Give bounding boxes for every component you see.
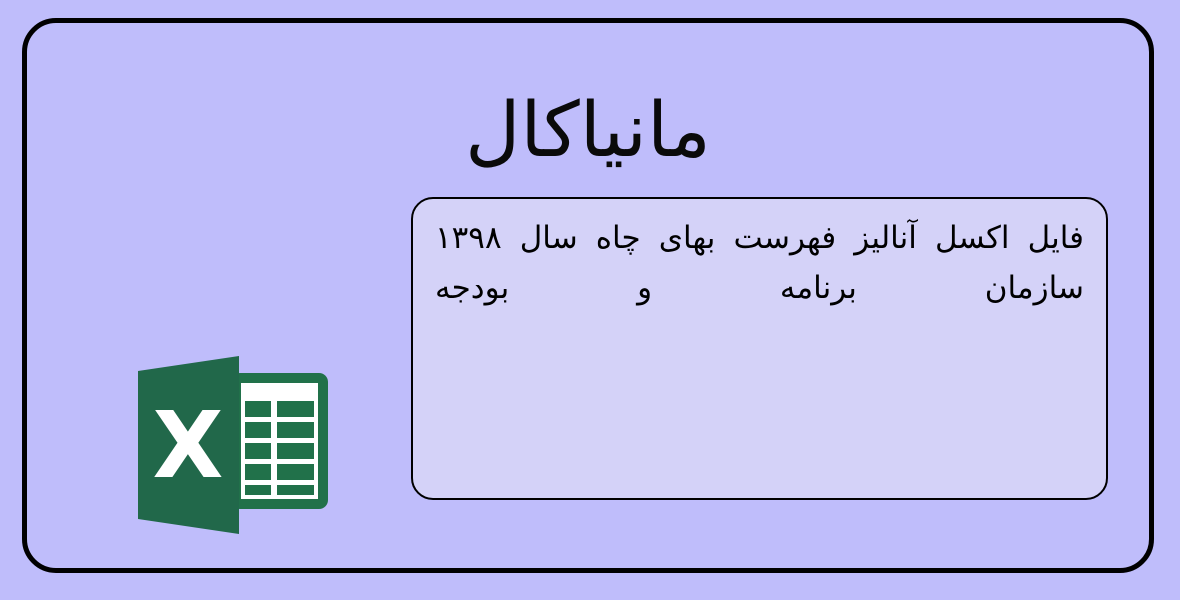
excel-letter-x: X (153, 392, 224, 499)
page-title: مانیاکال (27, 82, 1149, 177)
card-frame: مانیاکال فایل اکسل آنالیز فهرست بهای چاه… (22, 18, 1154, 573)
excel-front-panel: X (138, 356, 239, 534)
description-text: فایل اکسل آنالیز فهرست بهای چاه سال ۱۳۹۸… (435, 213, 1084, 313)
excel-file-icon-graphic: X (135, 353, 331, 537)
description-panel: فایل اکسل آنالیز فهرست بهای چاه سال ۱۳۹۸… (411, 197, 1108, 500)
excel-file-icon: X (135, 353, 331, 537)
excel-sheet-page (231, 373, 328, 509)
